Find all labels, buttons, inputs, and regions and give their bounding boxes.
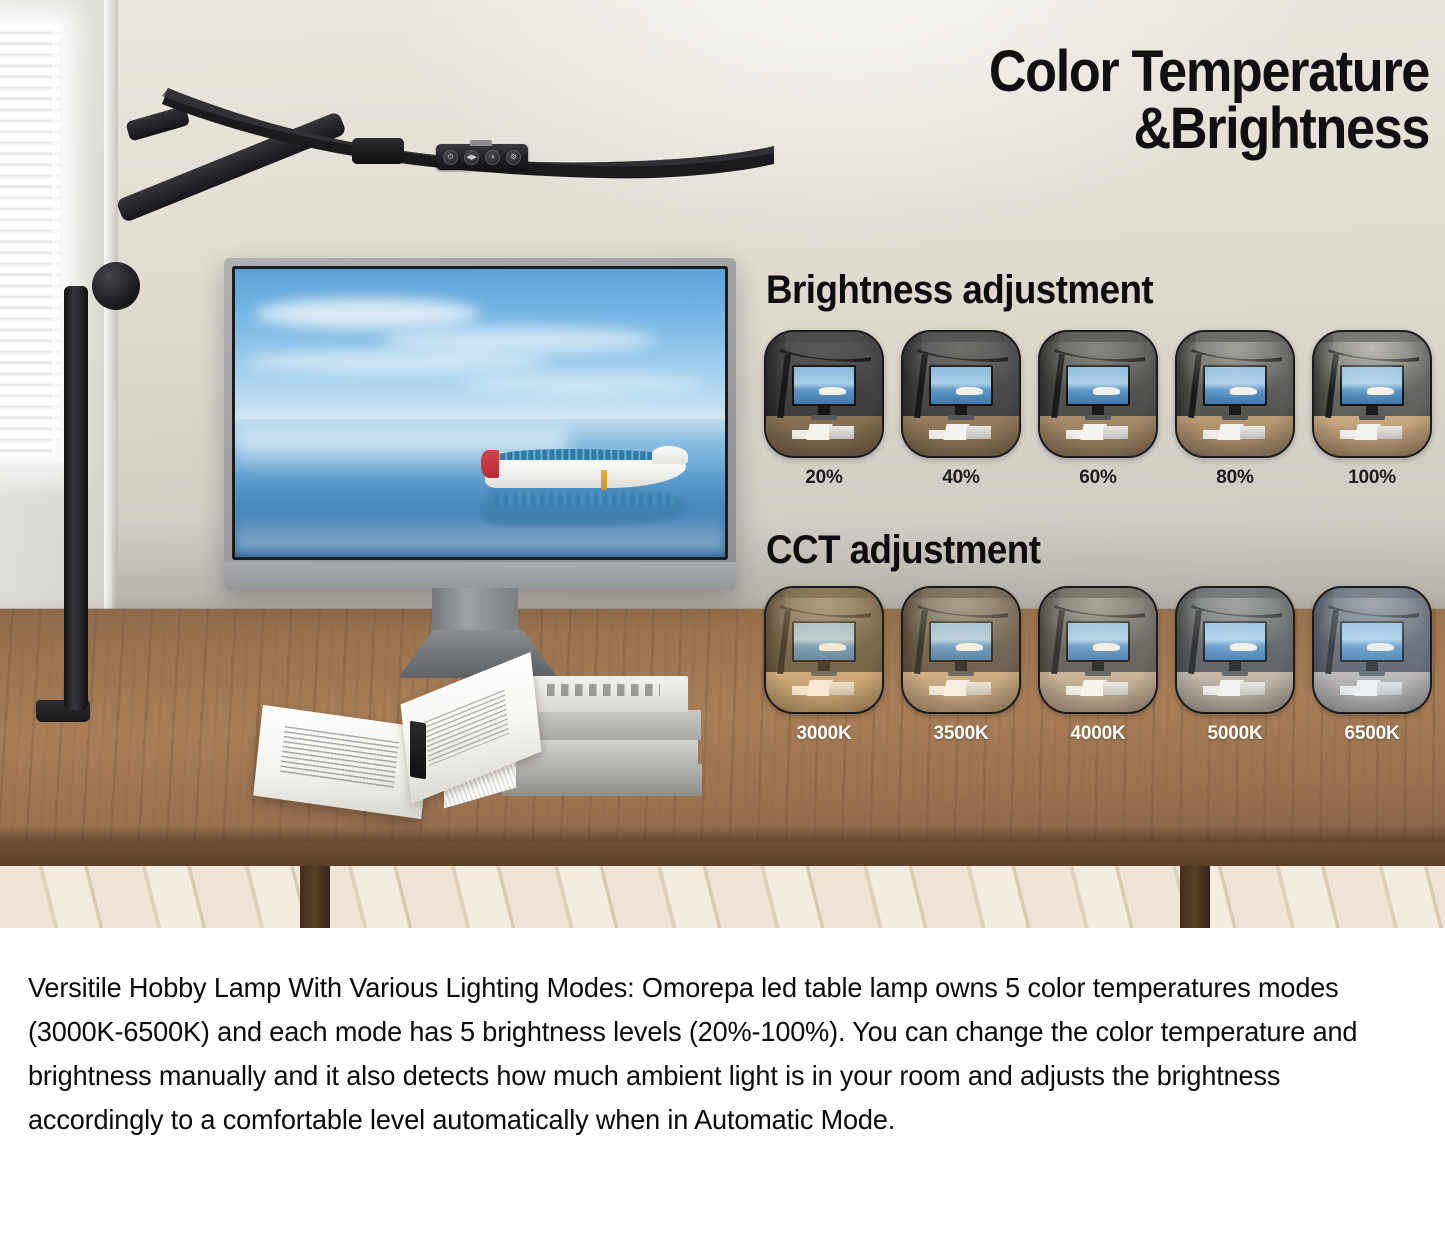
thumb-book-stack <box>1240 682 1266 694</box>
thumb-light-bar <box>1053 604 1143 615</box>
brightness-preview-thumbnail <box>1312 330 1432 458</box>
cct-preview-thumbnail <box>1038 586 1158 714</box>
lamp-vertical-post <box>64 286 88 710</box>
cct-tile: 4000K <box>1038 586 1158 745</box>
thumb-book-stack <box>1377 682 1403 694</box>
desk-leg <box>1180 866 1210 928</box>
lamp-head-mount <box>352 138 404 164</box>
brightness-tile: 20% <box>764 330 884 489</box>
brightness-tile: 60% <box>1038 330 1158 489</box>
thumb-monitor <box>1066 365 1131 406</box>
thumb-monitor <box>1066 621 1131 662</box>
thumb-book-stack <box>1103 426 1129 438</box>
thumb-monitor <box>792 365 857 406</box>
thumb-monitor-base <box>1085 671 1111 676</box>
desk-leg <box>300 866 330 928</box>
thumb-monitor-base <box>811 415 837 420</box>
thumb-monitor-base <box>811 671 837 676</box>
computer-monitor <box>224 258 736 590</box>
lamp-pivot-joint <box>92 262 140 310</box>
thumb-book-stack <box>1377 426 1403 438</box>
monitor-stand-neck <box>432 588 518 634</box>
wood-floor <box>0 866 1445 928</box>
cct-preview-thumbnail <box>901 586 1021 714</box>
power-icon[interactable]: ⏻ <box>443 150 458 165</box>
cct-tile: 6500K <box>1312 586 1432 745</box>
headline-line-1: Color Temperature <box>835 44 1429 101</box>
brightness-section-title: Brightness adjustment <box>766 268 1153 313</box>
brightness-tile-row: 20%40%60%80%100% <box>764 330 1432 489</box>
thumb-book-stack <box>1103 682 1129 694</box>
wall-corner-highlight <box>104 0 118 648</box>
brightness-preview-thumbnail <box>1175 330 1295 458</box>
thumb-light-bar <box>1053 348 1143 359</box>
cct-tile-label: 4000K <box>1038 723 1158 745</box>
brightness-preview-thumbnail <box>764 330 884 458</box>
brightness-tile-label: 60% <box>1038 467 1158 489</box>
thumb-book-stack <box>829 426 855 438</box>
thumb-monitor-base <box>1085 415 1111 420</box>
thumb-book-stack <box>829 682 855 694</box>
thumb-book-stack <box>966 426 992 438</box>
cct-tile-label: 6500K <box>1312 723 1432 745</box>
brightness-tile-label: 80% <box>1175 467 1295 489</box>
cct-tile-row: 3000K3500K4000K5000K6500K <box>764 586 1432 745</box>
boat-reflection <box>485 485 686 525</box>
thumb-light-bar <box>1327 348 1417 359</box>
product-photo-scene: ⏻ ◀▶ ◑ ⚙ <box>0 0 1445 928</box>
cloud <box>460 373 705 393</box>
thumb-monitor-base <box>1222 671 1248 676</box>
cct-tile-label: 5000K <box>1175 723 1295 745</box>
monitor-screen <box>232 266 728 560</box>
lamp-control-panel[interactable]: ⏻ ◀▶ ◑ ⚙ <box>436 144 528 170</box>
thumb-monitor <box>1203 365 1268 406</box>
cloud <box>382 327 656 353</box>
headline-line-2: &Brightness <box>835 101 1429 158</box>
thumb-monitor-base <box>948 671 974 676</box>
thumb-monitor <box>792 621 857 662</box>
thumb-monitor-base <box>1359 415 1385 420</box>
cct-tile-label: 3000K <box>764 723 884 745</box>
description-text: Versitile Hobby Lamp With Various Lighti… <box>28 966 1369 1142</box>
thumb-light-bar <box>779 604 869 615</box>
cct-tile: 3500K <box>901 586 1021 745</box>
brightness-mode-icon[interactable]: ◀▶ <box>464 150 479 165</box>
cct-preview-thumbnail <box>1312 586 1432 714</box>
page-title: Color Temperature &Brightness <box>835 44 1429 158</box>
desk-edge <box>0 842 1445 868</box>
brightness-tile-label: 20% <box>764 467 884 489</box>
thumb-monitor <box>1203 621 1268 662</box>
open-book <box>258 668 558 816</box>
window-blinds <box>0 24 62 464</box>
cct-tile: 5000K <box>1175 586 1295 745</box>
thumb-light-bar <box>916 604 1006 615</box>
cct-section-title: CCT adjustment <box>766 528 1040 573</box>
thumb-light-bar <box>1327 604 1417 615</box>
brightness-tile: 80% <box>1175 330 1295 489</box>
brightness-tile: 100% <box>1312 330 1432 489</box>
cct-tile-label: 3500K <box>901 723 1021 745</box>
thumb-light-bar <box>1190 348 1280 359</box>
thumb-monitor <box>1340 365 1405 406</box>
cct-preview-thumbnail <box>1175 586 1295 714</box>
brightness-tile: 40% <box>901 330 1021 489</box>
monitor-bezel-chin <box>224 562 736 590</box>
thumb-monitor-base <box>1359 671 1385 676</box>
thumb-monitor-base <box>1222 415 1248 420</box>
brightness-preview-thumbnail <box>1038 330 1158 458</box>
thumb-monitor <box>929 365 994 406</box>
auto-mode-icon[interactable]: ⚙ <box>506 150 521 165</box>
thumb-light-bar <box>1190 604 1280 615</box>
window-sill <box>0 458 72 472</box>
thumb-monitor-base <box>948 415 974 420</box>
product-description: Versitile Hobby Lamp With Various Lighti… <box>0 928 1445 1240</box>
color-temperature-icon[interactable]: ◑ <box>485 150 500 165</box>
cloud <box>245 350 549 373</box>
thumb-monitor <box>929 621 994 662</box>
thumb-light-bar <box>916 348 1006 359</box>
brightness-tile-label: 40% <box>901 467 1021 489</box>
thumb-book-stack <box>966 682 992 694</box>
brightness-preview-thumbnail <box>901 330 1021 458</box>
boat-on-water <box>485 442 686 488</box>
brightness-tile-label: 100% <box>1312 467 1432 489</box>
thumb-light-bar <box>779 348 869 359</box>
thumb-monitor <box>1340 621 1405 662</box>
cct-preview-thumbnail <box>764 586 884 714</box>
cct-tile: 3000K <box>764 586 884 745</box>
thumb-book-stack <box>1240 426 1266 438</box>
